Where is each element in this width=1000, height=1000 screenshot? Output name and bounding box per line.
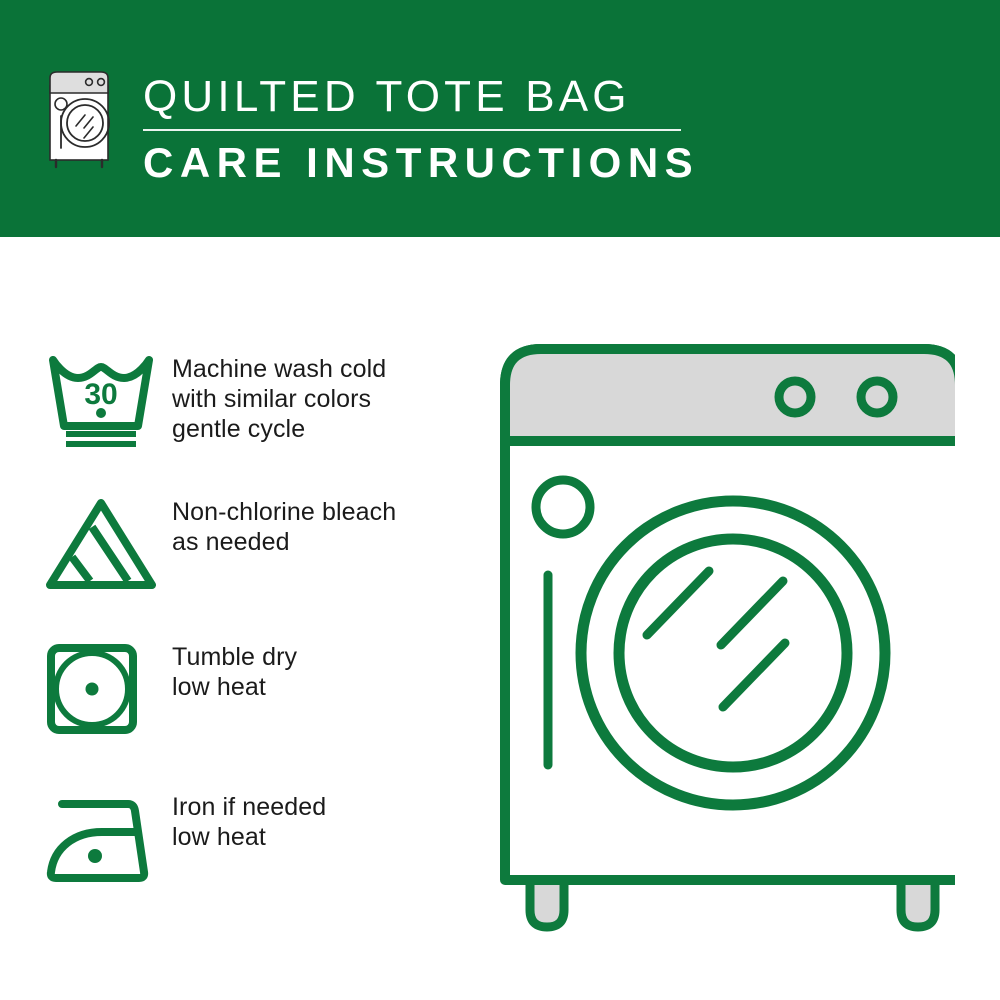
page-subtitle: CARE INSTRUCTIONS — [143, 139, 743, 187]
tumble-dry-low-heat-icon — [44, 640, 164, 741]
care-instructions-infographic: QUILTED TOTE BAG CARE INSTRUCTIONS 30 Ma… — [0, 0, 1000, 1000]
header-band: QUILTED TOTE BAG CARE INSTRUCTIONS — [0, 0, 1000, 237]
care-item-label: Tumble dry low heat — [172, 640, 297, 702]
iron-low-heat-icon — [44, 790, 164, 891]
care-item-label: Iron if needed low heat — [172, 790, 326, 852]
care-item-label: Non-chlorine bleach as needed — [172, 495, 396, 557]
title-divider — [143, 129, 681, 131]
wash-tub-30-gentle-icon: 30 — [44, 352, 164, 453]
non-chlorine-bleach-triangle-icon — [44, 495, 164, 596]
care-item-bleach: Non-chlorine bleach as needed — [44, 495, 396, 596]
care-item-label: Machine wash cold with similar colors ge… — [172, 352, 386, 444]
page-title: QUILTED TOTE BAG — [143, 72, 743, 122]
header-title-block: QUILTED TOTE BAG CARE INSTRUCTIONS — [143, 72, 743, 187]
care-item-iron: Iron if needed low heat — [44, 790, 326, 891]
wash-temperature-label: 30 — [84, 378, 117, 411]
control-panel — [505, 349, 955, 441]
care-item-machine-wash: 30 Machine wash cold with similar colors… — [44, 352, 386, 453]
front-load-washing-machine-illustration — [495, 335, 955, 935]
washing-machine-icon — [44, 66, 118, 172]
care-item-tumble-dry: Tumble dry low heat — [44, 640, 297, 741]
